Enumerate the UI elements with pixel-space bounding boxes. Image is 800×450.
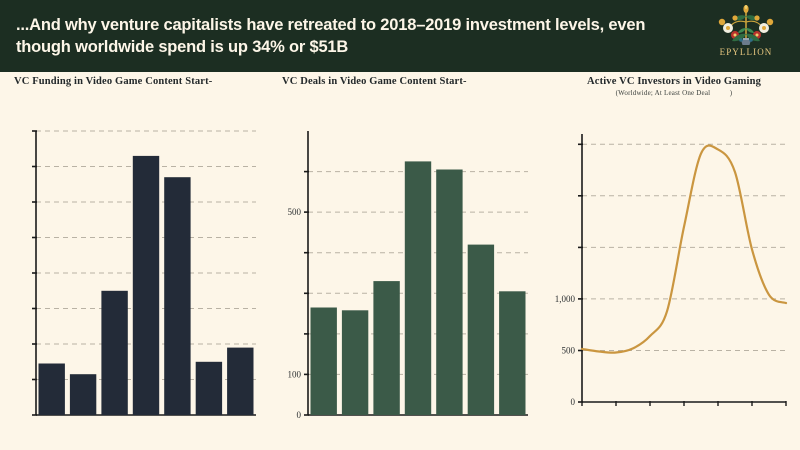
bar [373,281,399,415]
slide-header: ...And why venture capitalists have retr… [0,0,800,72]
bar [499,291,525,415]
y-axis-label: 100 [288,369,302,379]
y-axis-label: 0 [571,397,576,407]
chart-title-vc-deals: VC Deals in Video Game Content Start- [282,76,544,87]
header-title: ...And why venture capitalists have retr… [0,14,690,59]
chart-plot-vc-funding [14,103,276,423]
bar [227,348,253,415]
chart-plot-active-vc-investors: 05001,000 [552,102,796,412]
chart-plot-vc-deals: 0100500 [282,103,544,423]
bar [436,170,462,416]
bar [342,310,368,415]
bar [133,156,159,415]
y-axis-label: 500 [288,207,302,217]
y-axis-label: 1,000 [555,294,576,304]
y-axis-label: 500 [562,346,576,356]
bar [164,177,190,415]
chart-panel-active-vc-investors: Active VC Investors in Video Gaming (Wor… [552,76,796,412]
line-chart-active-vc-investors: 05001,000 [552,102,796,412]
brand-wordmark: EPYLLION [720,47,773,57]
bar [101,291,127,415]
bar [405,161,431,415]
chart-panel-vc-funding: VC Funding in Video Game Content Start- [14,76,276,423]
brand-logo: EPYLLION [700,2,792,68]
chart-subtitle-active-vc-investors: (Worldwide; At Least One Deal ) [552,89,796,97]
bar [70,374,96,415]
bar-chart-vc-funding [14,103,276,423]
floral-folk-emblem-icon [710,2,782,48]
bar-chart-vc-deals: 0100500 [282,103,544,423]
series-line [582,146,786,353]
chart-title-vc-funding: VC Funding in Video Game Content Start- [14,76,276,87]
bar [39,364,65,416]
y-axis-label: 0 [297,410,302,420]
slide-root: ...And why venture capitalists have retr… [0,0,800,450]
bar [196,362,222,415]
chart-title-active-vc-investors: Active VC Investors in Video Gaming [552,76,796,87]
chart-panel-vc-deals: VC Deals in Video Game Content Start- 01… [282,76,544,423]
bar [311,308,337,416]
bar [468,245,494,415]
